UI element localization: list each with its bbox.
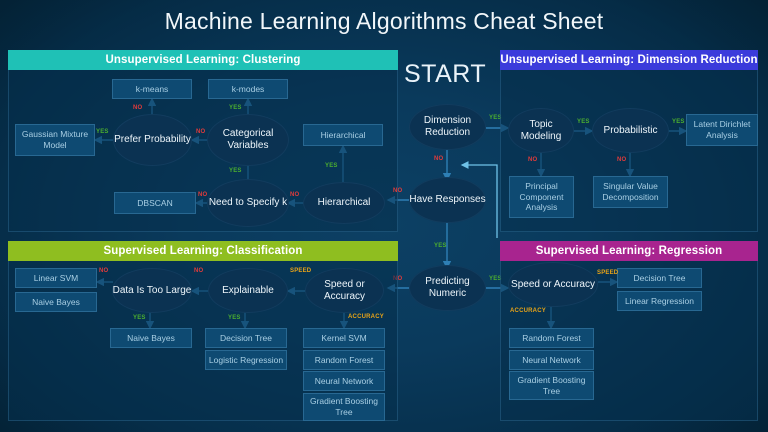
edge-label-prefer-prob-no: NO bbox=[133, 105, 142, 111]
panel-regression-header: Supervised Learning: Regression bbox=[500, 241, 758, 261]
leaf-k-means[interactable]: k-means bbox=[112, 79, 192, 99]
edge-label-data-too-large-yes: YES bbox=[133, 315, 146, 321]
leaf-naive-bayes-left[interactable]: Naive Bayes bbox=[15, 292, 97, 312]
page-title: Machine Learning Algorithms Cheat Sheet bbox=[0, 8, 768, 35]
node-explainable[interactable]: Explainable bbox=[208, 268, 288, 313]
edge-label-have-responses-no: NO bbox=[393, 188, 402, 194]
leaf-principal-component-analysis[interactable]: Principal Component Analysis bbox=[509, 176, 574, 218]
panel-classification-header: Supervised Learning: Classification bbox=[8, 241, 398, 261]
leaf-gradient-boosting-tree-classification[interactable]: Gradient Boosting Tree bbox=[303, 393, 385, 421]
leaf-kernel-svm[interactable]: Kernel SVM bbox=[303, 328, 385, 348]
edge-label-probabilistic-no: NO bbox=[617, 157, 626, 163]
edge-label-data-too-large-no: NO bbox=[99, 268, 108, 274]
edge-label-dimred-no: NO bbox=[434, 156, 443, 162]
edge-label-reg-accuracy: ACCURACY bbox=[510, 308, 546, 314]
leaf-random-forest-classification[interactable]: Random Forest bbox=[303, 350, 385, 370]
edge-label-cls-speed: SPEED bbox=[290, 268, 311, 274]
edge-label-explainable-no: NO bbox=[194, 268, 203, 274]
node-need-to-specify-k[interactable]: Need to Specify k bbox=[207, 179, 289, 227]
leaf-decision-tree-regression[interactable]: Decision Tree bbox=[617, 268, 702, 288]
edge-label-have-responses-yes: YES bbox=[434, 243, 447, 249]
edge-label-prefer-prob-yes: YES bbox=[96, 129, 109, 135]
node-hierarchical-decision[interactable]: Hierarchical bbox=[303, 182, 385, 224]
node-classification-speed-or-accuracy[interactable]: Speed or Accuracy bbox=[305, 268, 384, 313]
leaf-logistic-regression[interactable]: Logistic Regression bbox=[205, 350, 287, 370]
leaf-hierarchical[interactable]: Hierarchical bbox=[303, 124, 383, 146]
panel-dimension-reduction-header: Unsupervised Learning: Dimension Reducti… bbox=[500, 50, 758, 70]
leaf-singular-value-decomposition[interactable]: Singular Value Decomposition bbox=[593, 176, 668, 208]
node-categorical-variables[interactable]: Categorical Variables bbox=[207, 114, 289, 166]
leaf-naive-bayes-down[interactable]: Naive Bayes bbox=[110, 328, 192, 348]
leaf-decision-tree-classification[interactable]: Decision Tree bbox=[205, 328, 287, 348]
node-regression-speed-or-accuracy[interactable]: Speed or Accuracy bbox=[508, 262, 598, 307]
node-topic-modeling[interactable]: Topic Modeling bbox=[508, 108, 574, 153]
leaf-latent-dirichlet-analysis[interactable]: Latent Dirichlet Analysis bbox=[686, 114, 758, 146]
start-label: START bbox=[404, 60, 486, 89]
leaf-linear-svm[interactable]: Linear SVM bbox=[15, 268, 97, 288]
edge-label-need-k-yes: YES bbox=[229, 168, 242, 174]
node-have-responses[interactable]: Have Responses bbox=[409, 177, 486, 223]
node-dimension-reduction[interactable]: Dimension Reduction bbox=[409, 104, 486, 150]
edge-label-explainable-yes: YES bbox=[228, 315, 241, 321]
edge-label-hierarchical-yes: YES bbox=[325, 163, 338, 169]
edge-label-reg-speed: SPEED bbox=[597, 270, 618, 276]
leaf-gradient-boosting-tree-regression[interactable]: Gradient Boosting Tree bbox=[509, 371, 594, 400]
leaf-neural-network-classification[interactable]: Neural Network bbox=[303, 371, 385, 391]
edge-label-topic-yes: YES bbox=[577, 119, 590, 125]
edge-label-topic-no: NO bbox=[528, 157, 537, 163]
leaf-k-modes[interactable]: k-modes bbox=[208, 79, 288, 99]
edge-label-categorical-yes: YES bbox=[229, 105, 242, 111]
edge-label-categorical-no: NO bbox=[196, 129, 205, 135]
leaf-neural-network-regression[interactable]: Neural Network bbox=[509, 350, 594, 370]
edge-label-need-k-no: NO bbox=[198, 192, 207, 198]
panel-clustering-header: Unsupervised Learning: Clustering bbox=[8, 50, 398, 70]
edge-label-hierarchical-no: NO bbox=[290, 192, 299, 198]
leaf-gaussian-mixture-model[interactable]: Gaussian Mixture Model bbox=[15, 124, 95, 156]
node-data-is-too-large[interactable]: Data Is Too Large bbox=[112, 268, 192, 313]
node-probabilistic[interactable]: Probabilistic bbox=[592, 108, 669, 153]
edge-label-cls-accuracy: ACCURACY bbox=[348, 314, 384, 320]
node-predicting-numeric[interactable]: Predicting Numeric bbox=[409, 265, 486, 311]
leaf-random-forest-regression[interactable]: Random Forest bbox=[509, 328, 594, 348]
leaf-linear-regression[interactable]: Linear Regression bbox=[617, 291, 702, 311]
edge-label-probabilistic-yes: YES bbox=[672, 119, 685, 125]
leaf-dbscan[interactable]: DBSCAN bbox=[114, 192, 196, 214]
node-prefer-probability[interactable]: Prefer Probability bbox=[113, 114, 192, 166]
